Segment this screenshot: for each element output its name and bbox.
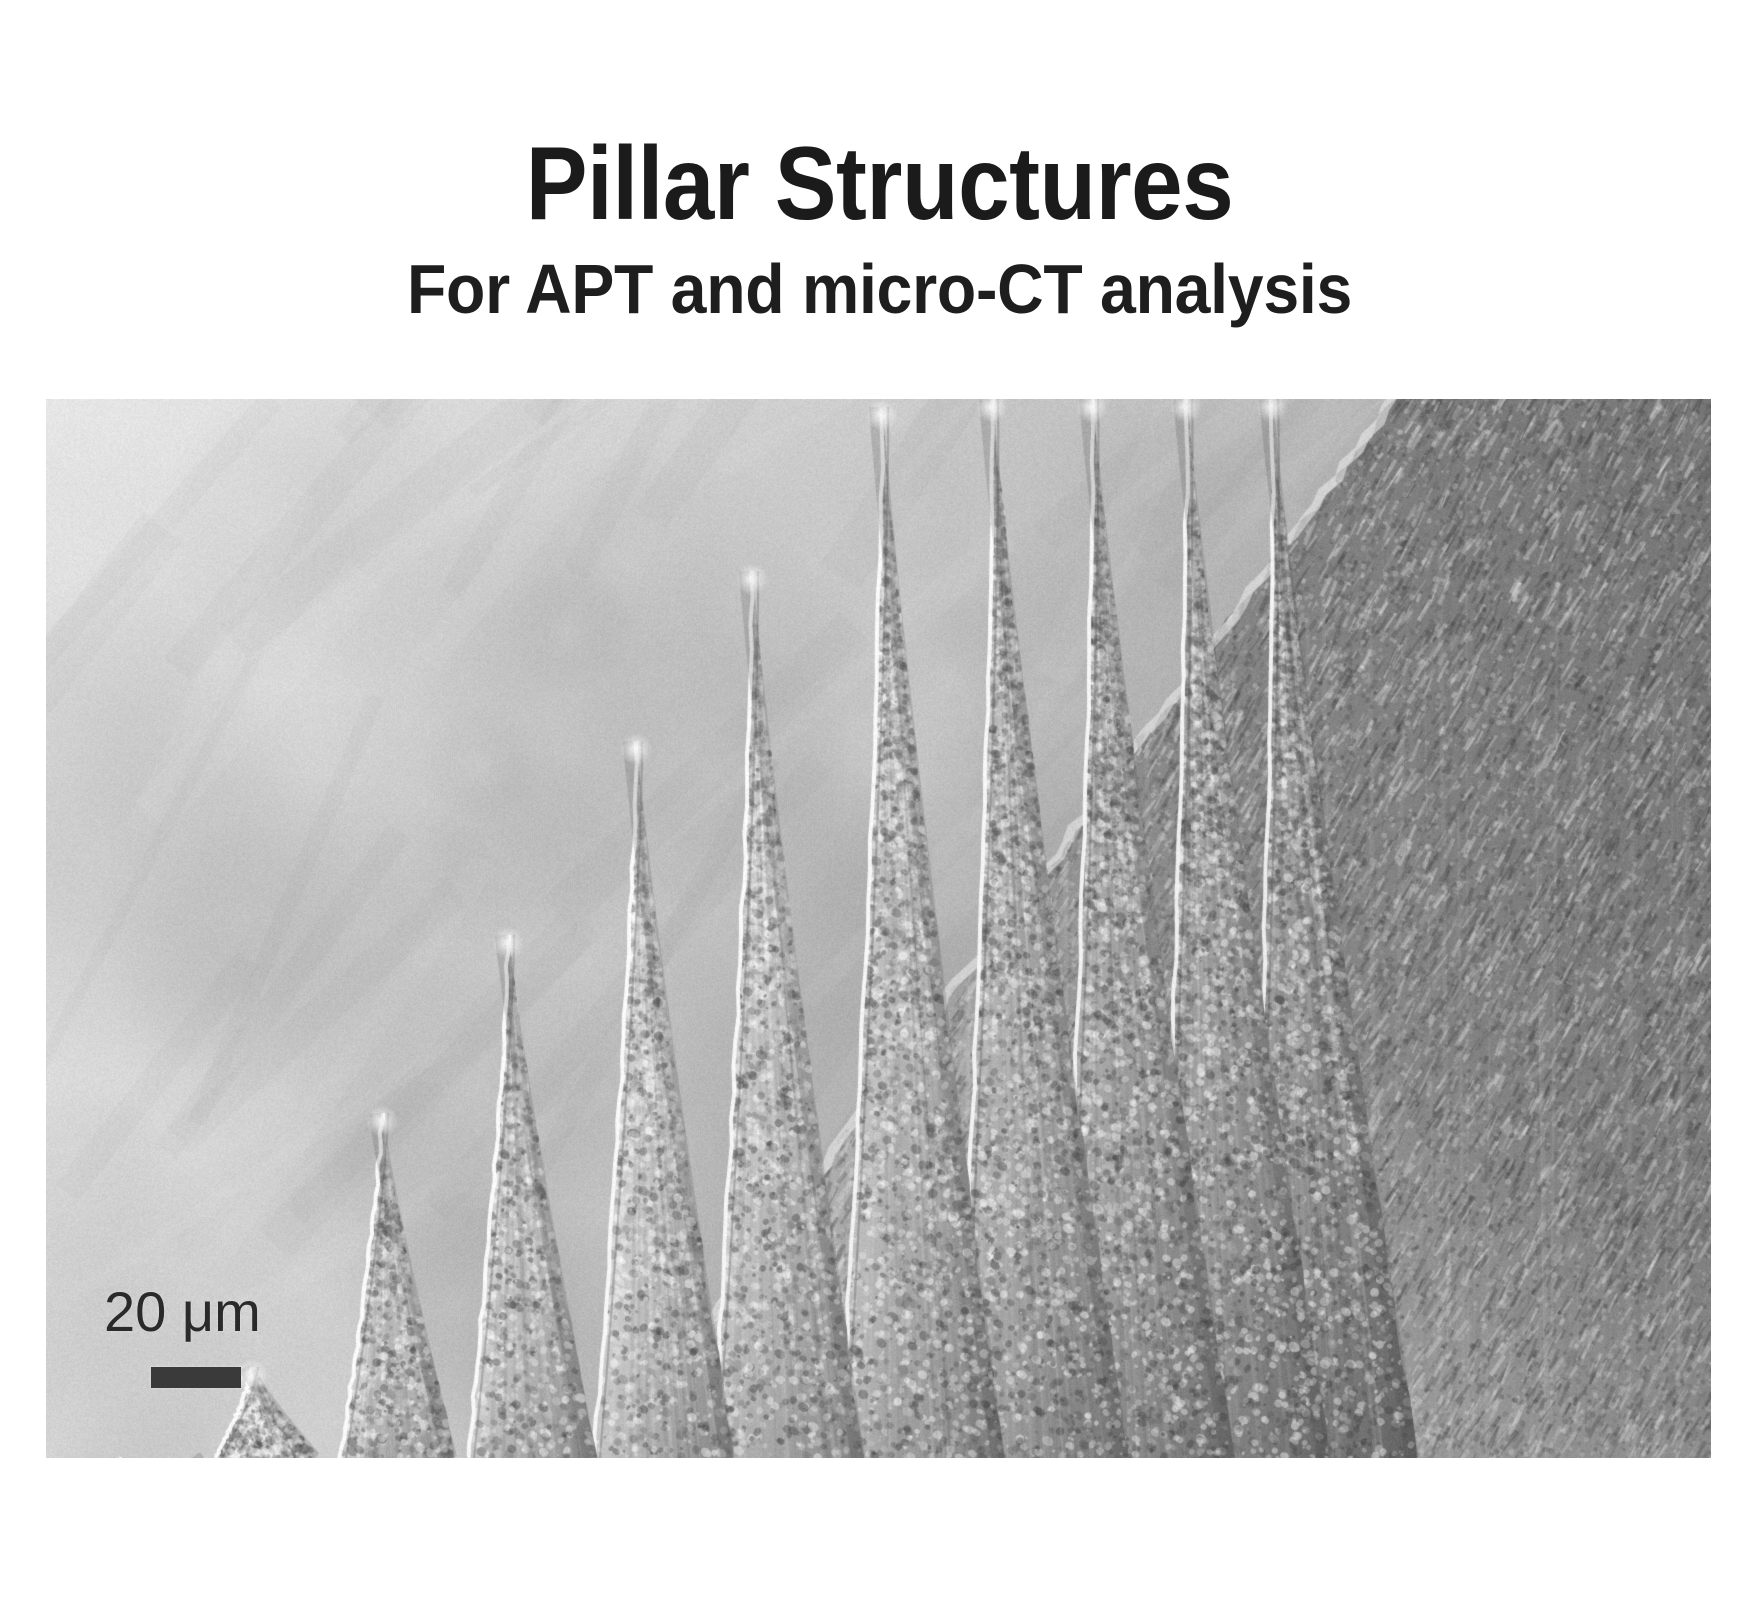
sem-micrograph-image bbox=[46, 399, 1711, 1458]
page-subtitle: For APT and micro-CT analysis bbox=[70, 236, 1688, 324]
sem-micrograph-figure: 20 μm bbox=[46, 399, 1711, 1458]
page-title: Pillar Structures bbox=[97, 0, 1663, 236]
figure-header: Pillar Structures For APT and micro-CT a… bbox=[0, 0, 1759, 324]
slide-root: Pillar Structures For APT and micro-CT a… bbox=[0, 0, 1759, 1600]
